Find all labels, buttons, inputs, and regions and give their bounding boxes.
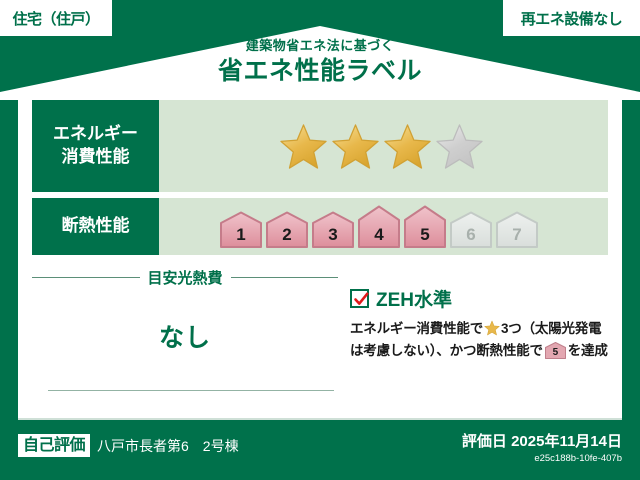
utility-cost-column: 目安光熱費 なし bbox=[32, 263, 338, 410]
badge-renewable-energy-label: 再エネ設備なし bbox=[521, 8, 623, 29]
house-badge-icon: 5 bbox=[545, 342, 566, 359]
label-panel: エネルギー 消費性能 断熱性能 1234567 目安光熱費 bbox=[18, 93, 622, 418]
footer-right: 評価日 2025年11月14日 e25c188b-10fe-407b bbox=[462, 430, 622, 464]
left-column-rule bbox=[48, 390, 334, 391]
insulation-level-number: 3 bbox=[311, 226, 355, 243]
insulation-level-2: 2 bbox=[265, 211, 309, 249]
title-subtitle: 建築物省エネ法に基づく bbox=[0, 38, 640, 54]
insulation-rating-body: 1234567 bbox=[159, 198, 608, 255]
zeh-heading: ZEH水準 bbox=[350, 285, 608, 312]
footer-left: 自己評価 八戸市長者第6 2号棟 bbox=[18, 434, 239, 457]
zeh-desc-part4: を達成 bbox=[568, 343, 608, 358]
star-icon bbox=[484, 320, 500, 336]
zeh-title: ZEH水準 bbox=[376, 285, 452, 312]
footer: 自己評価 八戸市長者第6 2号棟 評価日 2025年11月14日 e25c188… bbox=[0, 418, 640, 480]
energy-caption-line1: エネルギー bbox=[53, 123, 138, 146]
energy-rating-body bbox=[159, 100, 608, 192]
badge-housing-type: 住宅（住戸） bbox=[0, 0, 112, 36]
zeh-checkbox[interactable] bbox=[350, 289, 369, 308]
insulation-level-6: 6 bbox=[449, 211, 493, 249]
zeh-desc-part3: は考慮しない）、かつ断熱性能で bbox=[350, 343, 543, 358]
utility-cost-heading: 目安光熱費 bbox=[32, 267, 338, 288]
insulation-level-number: 6 bbox=[449, 226, 493, 243]
divider-line-left bbox=[32, 277, 140, 278]
check-icon bbox=[353, 291, 370, 308]
lower-section: 目安光熱費 なし ZEH水準 エネルギー消費性能で3つ（太陽光発電は考慮しな bbox=[32, 263, 608, 410]
zeh-description: エネルギー消費性能で3つ（太陽光発電は考慮しない）、かつ断熱性能で5を達成 bbox=[350, 318, 608, 363]
divider-line-right bbox=[231, 277, 339, 278]
zeh-desc-part1: エネルギー消費性能で bbox=[350, 321, 483, 336]
star-filled-icon bbox=[279, 123, 328, 170]
star-filled-icon bbox=[331, 123, 380, 170]
insulation-level-number: 1 bbox=[219, 226, 263, 243]
insulation-level-1: 1 bbox=[219, 211, 263, 249]
insulation-level-4: 4 bbox=[357, 205, 401, 249]
utility-cost-value: なし bbox=[32, 318, 338, 354]
row-energy-performance: エネルギー 消費性能 bbox=[32, 100, 608, 192]
energy-caption-line2: 消費性能 bbox=[62, 146, 130, 169]
insulation-level-number: 2 bbox=[265, 226, 309, 243]
insulation-level-7: 7 bbox=[495, 211, 539, 249]
energy-label-root: 住宅（住戸） 再エネ設備なし 建築物省エネ法に基づく 省エネ性能ラベル エネルギ… bbox=[0, 0, 640, 480]
star-empty-icon bbox=[435, 123, 484, 170]
insulation-level-number: 5 bbox=[403, 226, 447, 243]
insulation-caption-label: 断熱性能 bbox=[62, 215, 130, 238]
evaluation-date: 評価日 2025年11月14日 bbox=[462, 430, 622, 451]
badge-housing-type-label: 住宅（住戸） bbox=[12, 8, 99, 29]
page-title: 建築物省エネ法に基づく 省エネ性能ラベル bbox=[0, 38, 640, 87]
insulation-level-3: 3 bbox=[311, 211, 355, 249]
footer-divider bbox=[18, 418, 622, 420]
insulation-scale: 1234567 bbox=[219, 205, 539, 249]
insulation-caption: 断熱性能 bbox=[32, 198, 159, 255]
label-id: e25c188b-10fe-407b bbox=[462, 453, 622, 464]
utility-cost-heading-label: 目安光熱費 bbox=[148, 267, 223, 288]
zeh-column: ZEH水準 エネルギー消費性能で3つ（太陽光発電は考慮しない）、かつ断熱性能で5… bbox=[350, 263, 608, 410]
building-address: 八戸市長者第6 2号棟 bbox=[97, 436, 239, 456]
star-rating bbox=[279, 123, 484, 170]
house-badge-number: 5 bbox=[545, 348, 566, 358]
star-filled-icon bbox=[383, 123, 432, 170]
self-evaluation-badge: 自己評価 bbox=[18, 434, 90, 457]
title-main: 省エネ性能ラベル bbox=[0, 56, 640, 87]
insulation-level-5: 5 bbox=[403, 205, 447, 249]
energy-caption: エネルギー 消費性能 bbox=[32, 100, 159, 192]
insulation-level-number: 4 bbox=[357, 226, 401, 243]
zeh-desc-part2: 3つ（太陽光発電 bbox=[501, 321, 601, 336]
insulation-level-number: 7 bbox=[495, 226, 539, 243]
row-insulation-performance: 断熱性能 1234567 bbox=[32, 198, 608, 255]
badge-renewable-energy: 再エネ設備なし bbox=[503, 0, 640, 36]
